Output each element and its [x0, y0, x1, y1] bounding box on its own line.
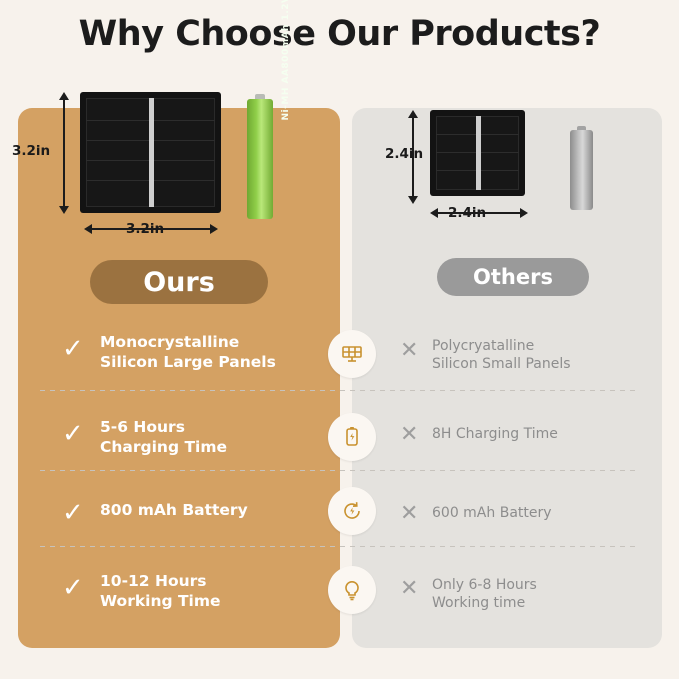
ours-feature-line2-4: Working Time — [100, 592, 315, 612]
feature-divider-2 — [40, 470, 640, 471]
solar-busbar — [149, 98, 154, 207]
others-feature-line2-1: Silicon Small Panels — [432, 355, 647, 373]
ours-feature-line1-1: Monocrystalline — [100, 333, 315, 353]
ours-feature-line1-2: 5-6 Hours — [100, 418, 315, 438]
ours-ribbon: Ours — [90, 260, 268, 304]
battery-label: Ni-MH AA800mAh 1.2V — [273, 0, 299, 118]
solar-panel-icon — [328, 330, 376, 378]
page-title: Why Choose Our Products? — [0, 14, 679, 54]
others-feature-line1-4: Only 6-8 Hours — [432, 576, 647, 594]
ours-height-dim-line — [63, 100, 65, 206]
others-cross-icon-4: ✕ — [400, 578, 418, 600]
ours-feature-line1-4: 10-12 Hours — [100, 572, 315, 592]
others-feature-line1-2: 8H Charging Time — [432, 425, 647, 443]
battery-bolt-icon — [328, 413, 376, 461]
others-feature-text-4: Only 6-8 Hours Working time — [432, 576, 647, 613]
ours-width-dim-text: 3.2in — [126, 221, 164, 237]
others-height-arrow-down — [408, 196, 418, 204]
ours-check-icon-2: ✓ — [62, 421, 84, 447]
ours-check-icon-3: ✓ — [62, 500, 84, 526]
others-height-arrow-up — [408, 110, 418, 118]
ours-check-icon-4: ✓ — [62, 575, 84, 601]
others-cross-icon-1: ✕ — [400, 340, 418, 362]
others-height-dim-text: 2.4in — [385, 146, 423, 162]
battery-body — [247, 99, 273, 219]
others-ribbon: Others — [437, 258, 589, 296]
ours-check-icon-1: ✓ — [62, 336, 84, 362]
others-cross-icon-3: ✕ — [400, 503, 418, 525]
ours-width-arrow-left — [84, 224, 92, 234]
ours-feature-line2-1: Silicon Large Panels — [100, 353, 315, 373]
others-feature-text-3: 600 mAh Battery — [432, 504, 647, 522]
ours-feature-text-2: 5-6 Hours Charging Time — [100, 418, 315, 458]
ours-width-arrow-right — [210, 224, 218, 234]
solar-busbar — [476, 116, 481, 190]
others-feature-line1-1: Polycryatalline — [432, 337, 647, 355]
ours-feature-text-4: 10-12 Hours Working Time — [100, 572, 315, 612]
ours-feature-line1-3: 800 mAh Battery — [100, 501, 315, 521]
ours-battery-image: Ni-MH AA800mAh 1.2V — [247, 94, 273, 219]
others-feature-line2-4: Working time — [432, 594, 647, 612]
ours-feature-line2-2: Charging Time — [100, 438, 315, 458]
others-feature-text-1: Polycryatalline Silicon Small Panels — [432, 337, 647, 374]
ours-height-arrow-down — [59, 206, 69, 214]
others-width-arrow-left — [430, 208, 438, 218]
others-feature-line1-3: 600 mAh Battery — [432, 504, 647, 522]
ours-solar-panel-image — [80, 92, 221, 213]
ours-height-dim-text: 3.2in — [12, 143, 50, 159]
battery-body — [570, 130, 593, 210]
others-feature-text-2: 8H Charging Time — [432, 425, 647, 443]
others-width-arrow-right — [520, 208, 528, 218]
ours-height-arrow-up — [59, 92, 69, 100]
ours-feature-text-3: 800 mAh Battery — [100, 501, 315, 521]
feature-divider-3 — [40, 546, 640, 547]
lightbulb-icon — [328, 566, 376, 614]
fast-charge-icon — [328, 487, 376, 535]
others-solar-panel-image — [430, 110, 525, 196]
others-width-dim-text: 2.4in — [448, 205, 486, 221]
ours-feature-text-1: Monocrystalline Silicon Large Panels — [100, 333, 315, 373]
others-cross-icon-2: ✕ — [400, 424, 418, 446]
feature-divider-1 — [40, 390, 640, 391]
others-battery-image — [570, 126, 593, 210]
